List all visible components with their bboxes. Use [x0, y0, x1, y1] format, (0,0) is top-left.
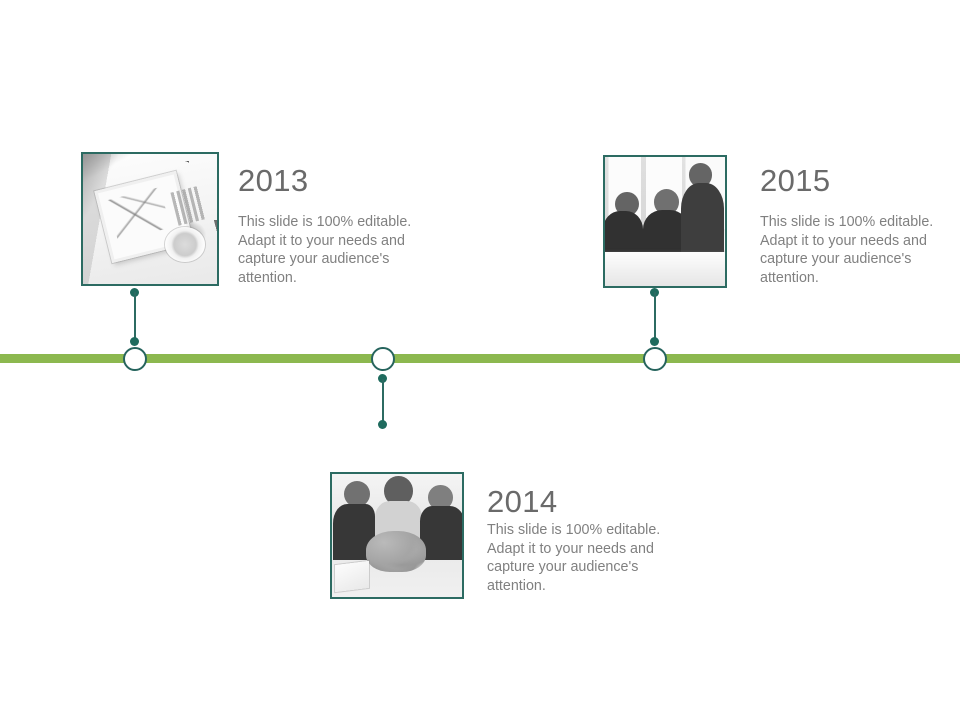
milestone-text-2015: 2015 This slide is 100% editable. Adapt … [760, 165, 940, 287]
timeline-marker-2013[interactable] [123, 347, 147, 371]
milestone-photo-2015[interactable] [603, 155, 727, 288]
stem-bottom-dot-2015 [650, 337, 659, 346]
photo-desk-image [83, 154, 217, 284]
stem-line-2015 [654, 292, 656, 340]
stem-line-2013 [134, 292, 136, 340]
photo-desk-cup [165, 227, 205, 262]
stem-bottom-dot-2014 [378, 420, 387, 429]
photo-team-image [332, 474, 462, 597]
milestone-text-2013: 2013 This slide is 100% editable. Adapt … [238, 165, 418, 287]
photo-team-hands [366, 531, 426, 573]
photo-meeting-table [603, 252, 727, 286]
milestone-year-2013: 2013 [238, 165, 418, 196]
stem-bottom-dot-2013 [130, 337, 139, 346]
milestone-photo-2014[interactable] [330, 472, 464, 599]
milestone-body-2014: This slide is 100% editable. Adapt it to… [487, 521, 667, 595]
timeline-marker-2014[interactable] [371, 347, 395, 371]
photo-team-laptop [335, 561, 369, 592]
milestone-photo-2013[interactable] [81, 152, 219, 286]
photo-meeting-image [605, 157, 725, 286]
milestone-year-2014: 2014 [487, 486, 667, 517]
milestone-body-2013: This slide is 100% editable. Adapt it to… [238, 213, 418, 287]
milestone-text-2014: 2014 This slide is 100% editable. Adapt … [487, 486, 667, 595]
timeline-marker-2015[interactable] [643, 347, 667, 371]
photo-meeting-body-3 [681, 183, 724, 258]
milestone-body-2015: This slide is 100% editable. Adapt it to… [760, 213, 940, 287]
stem-line-2014 [382, 379, 384, 423]
photo-desk-bars [171, 184, 213, 225]
milestone-year-2015: 2015 [760, 165, 940, 196]
timeline-slide: 2013 This slide is 100% editable. Adapt … [0, 0, 960, 720]
photo-team-body-3 [420, 506, 464, 560]
